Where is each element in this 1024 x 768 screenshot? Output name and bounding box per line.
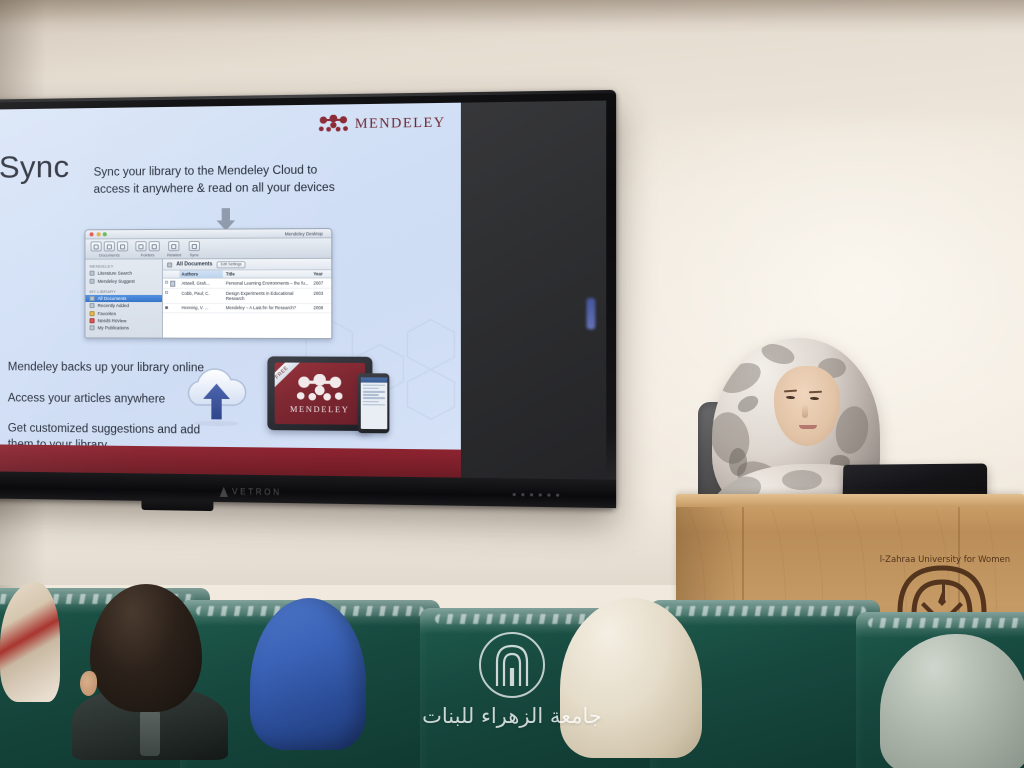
publications-icon [90,326,95,331]
sidebar-item-needs-review[interactable]: Needs Review [85,317,161,325]
table-row[interactable]: Attwell, Grah... Personal Learning Envir… [163,278,331,288]
devices-graphic: FREE MENDELEY [267,356,393,444]
column-header-authors[interactable]: Authors [179,270,222,277]
sidebar-item-mendeley-suggest[interactable]: Mendeley Suggest [85,277,161,285]
display-indicator-lights [513,493,560,497]
mockup-body: MENDELEY Literature Search Mendeley Sugg… [85,259,331,339]
table-row[interactable]: Henning, V. ... Mendeley – A Last.fm for… [163,304,331,314]
tablet-screen: FREE MENDELEY [275,363,365,425]
row-checkbox[interactable] [165,291,168,294]
smart-display[interactable]: MENDELEY Sync Sync your library to the M… [0,90,616,508]
document-pane-header: All Documents Edit Settings [163,259,331,271]
phone-device [358,373,390,433]
eyebrow-right [809,391,822,394]
sidebar-item-favorites[interactable]: Favorites [85,310,161,318]
cloud-upload-icon [176,364,257,428]
toolbar-group-documents: Documents [91,241,129,257]
delete-document-button[interactable] [104,241,115,251]
search-icon [90,271,95,276]
ceiling-shadow [0,0,1024,34]
row-title: Design Experiments in Educational Resear… [223,290,314,301]
row-title: Mendeley – A Last.fm for Research? [223,305,314,310]
lecture-hall-scene: MENDELEY Sync Sync your library to the M… [0,0,1024,768]
display-brand-label: VETRON [232,487,282,497]
document-pane-title: All Documents [176,261,212,267]
phone-text-line [362,401,378,403]
close-dot-icon [90,232,94,236]
document-table-header: Authors Title Year [163,270,331,278]
phone-screen [360,377,386,429]
star-icon [90,311,95,316]
table-row[interactable]: Cobb, Paul; C. Design Experiments in Edu… [163,289,331,304]
row-year: 2008 [313,305,331,310]
toolbar-label-sync: Sync [190,252,199,257]
new-folder-button[interactable] [135,241,146,251]
sidebar-label-all-documents: All Documents [98,296,127,301]
unread-dot-icon [165,306,168,309]
bullet-text: Mendeley backs up your library online [8,360,204,377]
column-header-title[interactable]: Title [223,271,314,276]
sidebar-section-my-library: MY LIBRARY [85,288,161,295]
sidebar-label-recently-added: Recently Added [98,303,129,308]
display-screen[interactable]: MENDELEY Sync Sync your library to the M… [0,101,606,480]
sidebar-label-needs-review: Needs Review [98,318,127,323]
eye-left [786,396,795,400]
phone-text-line [362,391,384,393]
sidebar-item-literature-search[interactable]: Literature Search [85,270,161,278]
mendeley-molecule-icon [319,115,348,133]
phone-app-bar [360,377,386,382]
mendeley-wordmark: MENDELEY [355,114,446,132]
row-title: Personal Learning Environments – the fu.… [223,280,314,286]
phone-text-line [362,384,384,386]
add-document-button[interactable] [91,241,102,251]
eyebrow-left [784,390,797,393]
down-arrow-icon [215,208,236,231]
bullet-text: Access your articles anywhere [8,391,165,408]
row-checkbox[interactable] [165,281,168,284]
display-brand-mark-icon [220,487,228,497]
seat-plastic-wrap [856,612,1024,638]
nose [802,404,808,418]
mockup-toolbar: Documents Folders [85,238,331,259]
presentation-slide: MENDELEY Sync Sync your library to the M… [0,103,461,478]
row-authors: Attwell, Grah... [179,280,222,286]
row-year: 2003 [313,290,331,301]
toolbar-group-sync: Sync [188,241,199,257]
mockup-titlebar: Mendeley Desktop [85,229,331,239]
sidebar-label-my-publications: My Publications [98,326,129,331]
slide-lead-text: Sync your library to the Mendeley Cloud … [94,162,358,198]
pdf-icon [170,280,175,286]
remove-folder-button[interactable] [149,241,160,251]
needs-review-icon [90,318,95,323]
row-year: 2007 [313,280,331,286]
sidebar-label-favorites: Favorites [98,311,116,316]
mockup-sidebar: MENDELEY Literature Search Mendeley Sugg… [85,259,162,339]
all-documents-icon [90,296,95,301]
toolbar-group-folders: Folders [135,241,160,257]
seat-plastic-wrap [650,600,880,626]
mendeley-logo: MENDELEY [319,113,446,132]
tablet-wordmark: MENDELEY [290,404,350,414]
toolbar-group-related: Related [167,241,181,257]
suggest-icon [90,278,95,283]
display-edge-glow [587,298,596,329]
sidebar-label-mendeley-suggest: Mendeley Suggest [98,278,135,283]
mendeley-desktop-mockup: Mendeley Desktop Documents [84,228,332,339]
phone-text-line [362,394,378,396]
mendeley-molecule-icon [297,373,343,401]
toolbar-label-folders: Folders [141,252,155,257]
audience-area [0,518,1024,768]
sync-button[interactable] [188,241,199,251]
display-mount-foot [141,500,213,511]
phone-text-line [362,387,378,389]
edit-settings-button[interactable]: Edit Settings [217,261,246,268]
sidebar-label-literature-search: Literature Search [98,271,132,276]
phone-text-line [362,397,384,399]
phone-text-line [362,404,384,406]
toolbar-label-related: Related [167,252,181,257]
mockup-document-pane: All Documents Edit Settings Authors Titl… [163,259,331,339]
related-button[interactable] [169,241,180,251]
attendee-shirt-collar [140,710,160,756]
eye-right [810,397,819,401]
sidebar-item-all-documents[interactable]: All Documents [85,295,161,302]
minimize-dot-icon [96,232,100,236]
folder-icon [167,262,172,267]
slide-title: Sync [0,149,69,186]
row-authors: Henning, V. ... [179,305,222,310]
column-header-year[interactable]: Year [313,271,331,276]
row-authors: Cobb, Paul; C. [179,290,222,301]
cloud-upload-graphic [176,364,257,428]
clock-icon [90,303,95,308]
zoom-dot-icon [103,232,107,236]
mouth [799,425,817,429]
attendee-ear [80,671,97,696]
mockup-window-title: Mendeley Desktop [285,231,323,236]
export-document-button[interactable] [117,241,128,251]
sidebar-item-recently-added[interactable]: Recently Added [85,302,161,310]
toolbar-label-documents: Documents [99,252,120,257]
sidebar-item-my-publications[interactable]: My Publications [85,324,161,332]
